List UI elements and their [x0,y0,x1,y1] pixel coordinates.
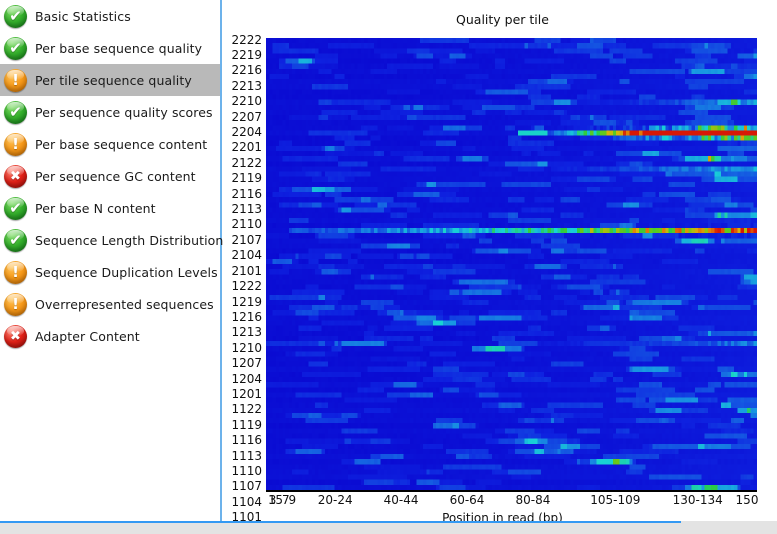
plot-title: Quality per tile [228,12,777,27]
pass-status-icon: ✔ [4,101,27,124]
sidebar-item-per-tile-sequence-quality[interactable]: !Per tile sequence quality [0,64,220,96]
sidebar-item-per-sequence-quality-scores[interactable]: ✔Per sequence quality scores [0,96,220,128]
pass-status-icon: ✔ [4,37,27,60]
window-bottom-band-right [681,521,777,523]
x-tick-label: 9 [289,493,297,507]
sidebar-item-overrepresented-sequences[interactable]: !Overrepresented sequences [0,288,220,320]
status-glyph: ! [4,69,27,92]
pass-status-icon: ✔ [4,197,27,220]
x-tick-label: 60-64 [450,493,485,507]
sidebar-item-per-base-n-content[interactable]: ✔Per base N content [0,192,220,224]
quality-per-tile-heatmap [266,38,757,492]
sidebar-item-label: Sequence Duplication Levels [35,265,218,280]
y-tick-label: 1110 [231,466,262,477]
sidebar-item-label: Per base sequence content [35,137,207,152]
heatmap-canvas [266,38,757,490]
y-tick-label: 1119 [231,420,262,431]
status-glyph: ✔ [4,229,27,252]
status-glyph: ! [4,261,27,284]
y-tick-label: 1213 [231,327,262,338]
y-tick-label: 2116 [231,189,262,200]
y-tick-label: 2104 [231,250,262,261]
window-bottom-band [0,523,777,534]
y-tick-label: 1216 [231,312,262,323]
status-glyph: ✔ [4,37,27,60]
warn-status-icon: ! [4,133,27,156]
y-tick-label: 2101 [231,266,262,277]
sidebar-item-sequence-duplication-levels[interactable]: !Sequence Duplication Levels [0,256,220,288]
x-axis-tick-labels: 1357920-2440-4460-6480-84105-109130-1341… [266,493,757,509]
y-tick-label: 1210 [231,343,262,354]
status-glyph: ! [4,133,27,156]
y-tick-label: 2204 [231,127,262,138]
y-tick-label: 2219 [231,50,262,61]
status-glyph: ✔ [4,197,27,220]
y-tick-label: 2216 [231,65,262,76]
pass-status-icon: ✔ [4,5,27,28]
x-tick-label: 150 [736,493,759,507]
y-axis-tick-labels: 2222221922162213221022072204220121222119… [228,38,264,490]
y-tick-label: 2110 [231,219,262,230]
y-tick-label: 2222 [231,35,262,46]
y-tick-label: 1222 [231,281,262,292]
y-tick-label: 1113 [231,451,262,462]
y-tick-label: 1104 [231,497,262,508]
sidebar-item-label: Per sequence GC content [35,169,196,184]
sidebar-item-per-base-sequence-content[interactable]: !Per base sequence content [0,128,220,160]
sidebar-item-label: Sequence Length Distribution [35,233,223,248]
x-tick-label: 105-109 [590,493,640,507]
y-tick-label: 1116 [231,435,262,446]
module-sidebar: ✔Basic Statistics✔Per base sequence qual… [0,0,222,521]
y-tick-label: 2201 [231,142,262,153]
warn-status-icon: ! [4,293,27,316]
x-tick-label: 130-134 [673,493,723,507]
y-tick-label: 2207 [231,112,262,123]
sidebar-item-sequence-length-distribution[interactable]: ✔Sequence Length Distribution [0,224,220,256]
pass-status-icon: ✔ [4,229,27,252]
module-list: ✔Basic Statistics✔Per base sequence qual… [0,0,220,352]
y-tick-label: 2107 [231,235,262,246]
y-tick-label: 2119 [231,173,262,184]
y-tick-label: 1219 [231,297,262,308]
y-tick-label: 1207 [231,358,262,369]
y-tick-label: 2213 [231,81,262,92]
sidebar-item-label: Overrepresented sequences [35,297,214,312]
fail-status-icon: ✖ [4,325,27,348]
sidebar-item-label: Per tile sequence quality [35,73,192,88]
y-tick-label: 2210 [231,96,262,107]
sidebar-item-per-base-sequence-quality[interactable]: ✔Per base sequence quality [0,32,220,64]
sidebar-item-label: Basic Statistics [35,9,131,24]
y-tick-label: 1107 [231,481,262,492]
y-tick-label: 1204 [231,374,262,385]
status-glyph: ! [4,293,27,316]
fail-status-icon: ✖ [4,165,27,188]
warn-status-icon: ! [4,261,27,284]
sidebar-item-basic-statistics[interactable]: ✔Basic Statistics [0,0,220,32]
x-tick-label: 20-24 [318,493,353,507]
y-tick-label: 2122 [231,158,262,169]
plot-panel: Quality per tile 22222219221622132210220… [228,0,777,521]
warn-status-icon: ! [4,69,27,92]
status-glyph: ✖ [4,325,27,348]
x-tick-label: 80-84 [515,493,550,507]
y-tick-label: 1122 [231,404,262,415]
status-glyph: ✔ [4,5,27,28]
sidebar-item-label: Adapter Content [35,329,140,344]
y-tick-label: 1201 [231,389,262,400]
sidebar-item-label: Per base sequence quality [35,41,202,56]
x-tick-label: 40-44 [384,493,419,507]
heatmap-area [266,38,757,490]
y-tick-label: 2113 [231,204,262,215]
sidebar-item-per-sequence-gc-content[interactable]: ✖Per sequence GC content [0,160,220,192]
status-glyph: ✖ [4,165,27,188]
status-glyph: ✔ [4,101,27,124]
sidebar-item-adapter-content[interactable]: ✖Adapter Content [0,320,220,352]
sidebar-item-label: Per base N content [35,201,156,216]
sidebar-item-label: Per sequence quality scores [35,105,213,120]
